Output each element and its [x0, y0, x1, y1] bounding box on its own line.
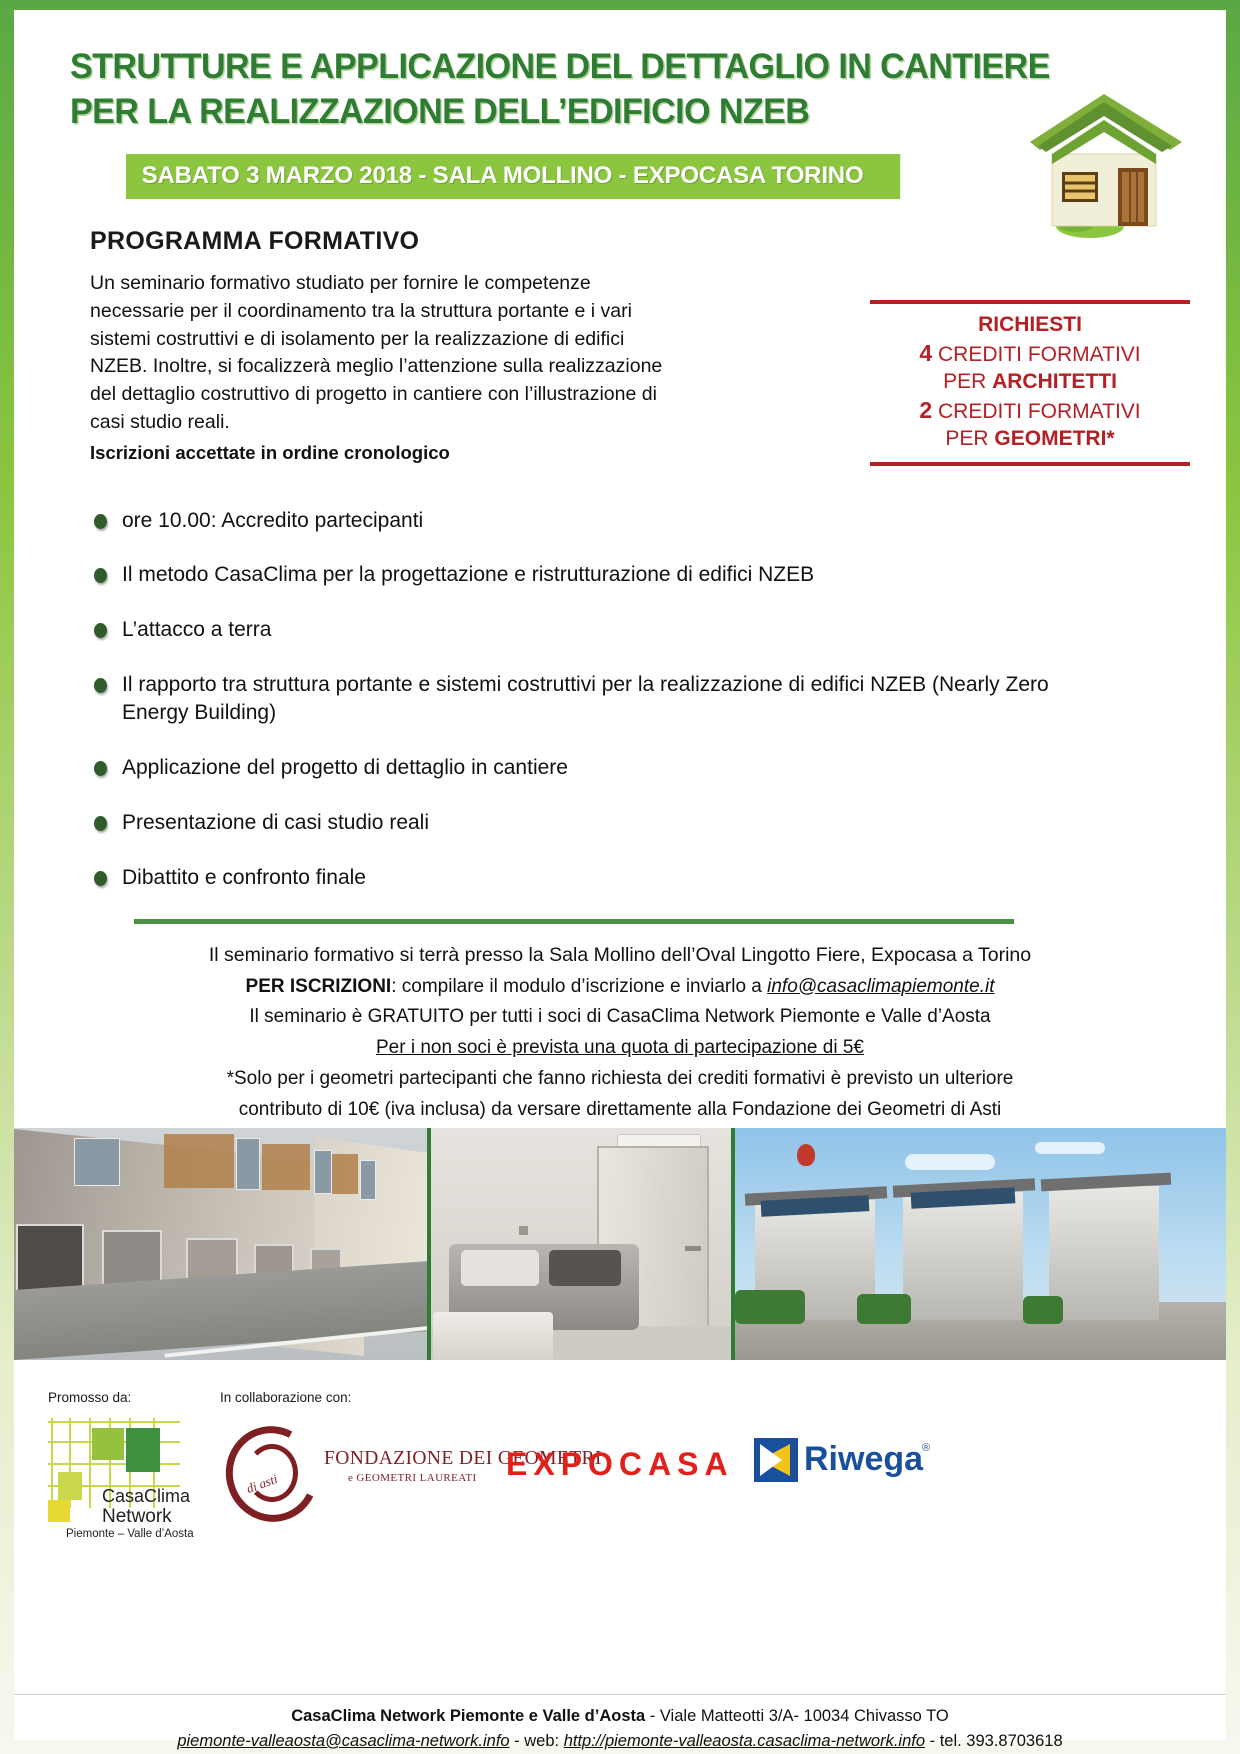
bullet-text: Il metodo CasaClima per la progettazione… — [122, 563, 814, 586]
crediti-formativi-box: RICHIESTI 4 CREDITI FORMATIVI PER ARCHIT… — [870, 300, 1190, 466]
list-item: ore 10.00: Accredito partecipanti — [88, 507, 1053, 535]
crediti-line-geometri: PER GEOMETRI* — [870, 426, 1190, 453]
crediti-per-2: PER — [945, 427, 994, 450]
riwega-mark-icon — [754, 1438, 798, 1482]
in-collaborazione-label: In collaborazione con: — [220, 1390, 351, 1405]
crediti-label-2: CREDITI FORMATIVI — [932, 400, 1140, 423]
list-item: Dibattito e confronto finale — [88, 864, 1053, 892]
crediti-num-4: 4 — [919, 340, 932, 366]
crediti-num-2: 2 — [919, 397, 932, 423]
fondazione-geometri-logo: di asti FONDAZIONE DEI GEOMETRI e GEOMET… — [220, 1418, 510, 1528]
house-illustration-icon — [1022, 76, 1192, 251]
crediti-line-architetti: PER ARCHITETTI — [870, 369, 1190, 396]
crediti-line-geometri-num: 2 CREDITI FORMATIVI — [870, 396, 1190, 426]
iscrizioni-line: PER ISCRIZIONI: compilare il modulo d’is… — [115, 972, 1125, 1003]
quota-line: Per i non soci è prevista una quota di p… — [115, 1033, 1125, 1064]
contacts-web-label: - web: — [510, 1732, 564, 1750]
section-divider — [134, 919, 1014, 924]
photo-modern-houses-render — [735, 1128, 1226, 1360]
footer-contacts: CasaClima Network Piemonte e Valle d’Aos… — [14, 1704, 1226, 1754]
registration-info-block: Il seminario formativo si terrà presso l… — [115, 940, 1125, 1125]
crediti-line-architetti-num: 4 CREDITI FORMATIVI — [870, 339, 1190, 369]
poster-inner-frame: STRUTTURE E APPLICAZIONE DEL DETTAGLIO I… — [14, 10, 1226, 1740]
intro-text: Un seminario formativo studiato per forn… — [90, 272, 662, 432]
bullet-dot-icon — [94, 871, 107, 886]
contacts-website-link[interactable]: http://piemonte-valleaosta.casaclima-net… — [564, 1732, 925, 1750]
photo-interior-living-room — [431, 1128, 731, 1360]
bullet-dot-icon — [94, 514, 107, 529]
title-line-1: STRUTTURE E APPLICAZIONE DEL DETTAGLIO I… — [70, 46, 1050, 86]
photo-apartment-street — [14, 1128, 427, 1360]
bullet-dot-icon — [94, 623, 107, 638]
riwega-logo: Riwega ® — [754, 1438, 934, 1484]
program-intro: Un seminario formativo studiato per forn… — [90, 270, 680, 466]
quota-text: Per i non soci è prevista una quota di p… — [376, 1037, 864, 1058]
bullet-text: Presentazione di casi studio reali — [122, 811, 429, 834]
casaclima-word: CasaClima — [102, 1486, 190, 1507]
contacts-phone: - tel. 393.8703618 — [925, 1732, 1063, 1750]
registration-email-link[interactable]: info@casaclimapiemonte.it — [767, 976, 994, 997]
riwega-registered-icon: ® — [922, 1442, 930, 1454]
title-line-2: PER LA REALIZZAZIONE DELL’EDIFICIO NZEB — [70, 89, 1141, 134]
contacts-org-name: CasaClima Network Piemonte e Valle d’Aos… — [291, 1707, 645, 1725]
bullet-text: Il rapporto tra struttura portante e sis… — [122, 673, 1049, 724]
contacts-address: - Viale Matteotti 3/A- 10034 Chivasso TO — [645, 1707, 949, 1725]
bullet-text: Dibattito e confronto finale — [122, 866, 366, 889]
network-word: Network — [102, 1506, 172, 1528]
footer: Promosso da: In collaborazione con: — [14, 1372, 1226, 1740]
list-item: Il rapporto tra struttura portante e sis… — [88, 671, 1053, 727]
contacts-web-line: piemonte-valleaosta@casaclima-network.in… — [14, 1729, 1226, 1754]
note-line-2: contributo di 10€ (iva inclusa) da versa… — [115, 1095, 1125, 1126]
bullet-text: Applicazione del progetto di dettaglio i… — [122, 756, 568, 779]
crediti-per-1: PER — [943, 370, 992, 393]
date-venue-banner: SABATO 3 MARZO 2018 - SALA MOLLINO - EXP… — [126, 154, 900, 199]
contacts-email-link[interactable]: piemonte-valleaosta@casaclima-network.in… — [177, 1732, 509, 1750]
casaclima-network-logo: CasaClima Network Piemonte – Valle d’Aos… — [48, 1416, 198, 1534]
crediti-geometri: GEOMETRI* — [994, 427, 1114, 450]
bullet-dot-icon — [94, 568, 107, 583]
contacts-address-line: CasaClima Network Piemonte e Valle d’Aos… — [14, 1704, 1226, 1729]
header-block: STRUTTURE E APPLICAZIONE DEL DETTAGLIO I… — [14, 10, 1226, 199]
list-item: Applicazione del progetto di dettaglio i… — [88, 754, 1053, 782]
photo-strip — [14, 1128, 1226, 1360]
list-item: L’attacco a terra — [88, 616, 1053, 644]
iscrizioni-cronologico: Iscrizioni accettate in ordine cronologi… — [90, 440, 680, 466]
bullet-dot-icon — [94, 816, 107, 831]
venue-line: Il seminario formativo si terrà presso l… — [115, 940, 1125, 972]
gratuito-line: Il seminario è GRATUITO per tutti i soci… — [115, 1002, 1125, 1033]
fondazione-subtitle: e GEOMETRI LAUREATI — [348, 1472, 477, 1484]
bullet-text: L’attacco a terra — [122, 618, 271, 641]
bullet-text: ore 10.00: Accredito partecipanti — [122, 509, 423, 532]
page-title: STRUTTURE E APPLICAZIONE DEL DETTAGLIO I… — [70, 44, 1141, 134]
crediti-label-4: CREDITI FORMATIVI — [932, 343, 1140, 366]
iscrizioni-text: : compilare il modulo d’iscrizione e inv… — [391, 976, 767, 997]
iscrizioni-label: PER ISCRIZIONI — [246, 976, 392, 997]
footer-divider — [14, 1694, 1226, 1695]
list-item: Il metodo CasaClima per la progettazione… — [88, 561, 1053, 589]
expocasa-logo: EXPOCASA — [506, 1446, 734, 1483]
bullet-dot-icon — [94, 678, 107, 693]
promosso-da-label: Promosso da: — [48, 1390, 131, 1405]
casaclima-region: Piemonte – Valle d’Aosta — [66, 1528, 194, 1540]
note-line-1: *Solo per i geometri partecipanti che fa… — [115, 1064, 1125, 1095]
bullet-dot-icon — [94, 761, 107, 776]
hot-air-balloon-icon — [797, 1144, 815, 1166]
crediti-line-richiesti: RICHIESTI — [870, 312, 1190, 339]
list-item: Presentazione di casi studio reali — [88, 809, 1053, 837]
crediti-architetti: ARCHITETTI — [992, 370, 1117, 393]
riwega-wordmark: Riwega — [804, 1440, 923, 1479]
poster-background: STRUTTURE E APPLICAZIONE DEL DETTAGLIO I… — [0, 0, 1240, 1754]
program-bullet-list: ore 10.00: Accredito partecipanti Il met… — [88, 507, 1053, 892]
